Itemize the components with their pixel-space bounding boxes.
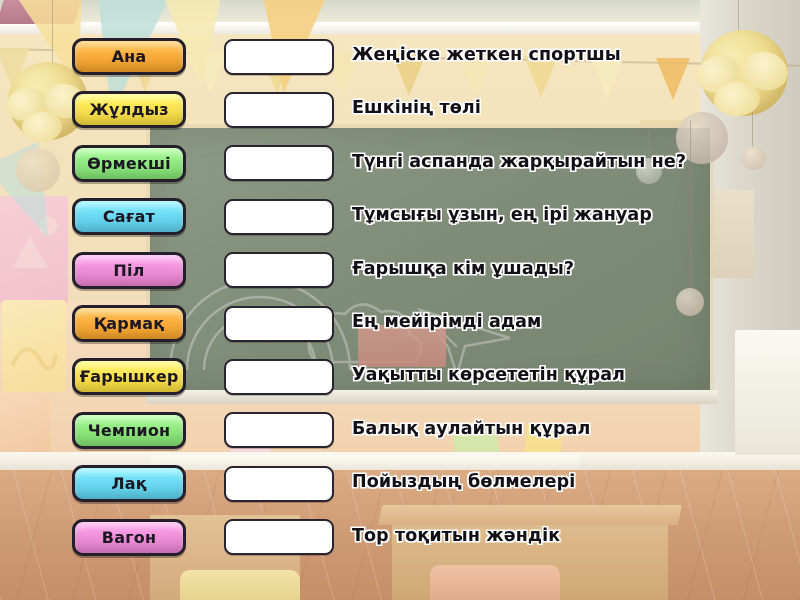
word-tile[interactable]: Ана (72, 38, 186, 75)
word-tile-label: Жұлдыз (89, 100, 169, 119)
clue-text: Ешкінің төлі (352, 98, 792, 118)
word-tile-label: Піл (113, 261, 144, 280)
answer-drop-box[interactable] (224, 306, 334, 342)
word-tile-label: Қармақ (94, 314, 165, 333)
match-row: ӨрмекшіТүнгі аспанда жарқырайтын не? (0, 145, 800, 189)
clue-text: Жеңіске жеткен спортшы (352, 45, 792, 65)
word-tile-label: Ғарышкер (79, 367, 178, 386)
clue-text: Тор тоқитын жәндік (352, 526, 792, 546)
match-row: ПілҒарышқа кім ұшады? (0, 252, 800, 296)
match-row: ҒарышкерУақытты көрсететін құрал (0, 358, 800, 402)
word-tile[interactable]: Піл (72, 252, 186, 289)
match-row: ЖұлдызЕшкінің төлі (0, 91, 800, 135)
answer-drop-box[interactable] (224, 412, 334, 448)
word-tile[interactable]: Вагон (72, 519, 186, 556)
clue-text: Ғарышқа кім ұшады? (352, 259, 792, 279)
word-tile-label: Чемпион (88, 421, 171, 440)
match-row: ВагонТор тоқитын жәндік (0, 519, 800, 563)
answer-drop-box[interactable] (224, 466, 334, 502)
word-tile-label: Лақ (111, 474, 147, 493)
clue-text: Түнгі аспанда жарқырайтын не? (352, 152, 792, 172)
clue-text: Балық аулайтын құрал (352, 419, 792, 439)
word-tile-label: Сағат (103, 207, 155, 226)
word-tile[interactable]: Жұлдыз (72, 91, 186, 128)
clue-text: Тұмсығы ұзын, ең ірі жануар (352, 205, 792, 225)
answer-drop-box[interactable] (224, 145, 334, 181)
answer-drop-box[interactable] (224, 199, 334, 235)
word-tile[interactable]: Өрмекші (72, 145, 186, 182)
match-row: ЛақПойыздың бөлмелері (0, 465, 800, 509)
word-tile[interactable]: Лақ (72, 465, 186, 502)
answer-drop-box[interactable] (224, 92, 334, 128)
match-up-rows: АнаЖеңіске жеткен спортшыЖұлдызЕшкінің т… (0, 0, 800, 600)
clue-text: Пойыздың бөлмелері (352, 472, 792, 492)
answer-drop-box[interactable] (224, 519, 334, 555)
match-row: ҚармақЕң мейірімді адам (0, 305, 800, 349)
word-tile-label: Вагон (102, 528, 156, 547)
word-tile[interactable]: Сағат (72, 198, 186, 235)
answer-drop-box[interactable] (224, 252, 334, 288)
answer-drop-box[interactable] (224, 359, 334, 395)
clue-text: Уақытты көрсететін құрал (352, 365, 792, 385)
word-tile[interactable]: Ғарышкер (72, 358, 186, 395)
match-row: АнаЖеңіске жеткен спортшы (0, 38, 800, 82)
word-tile-label: Өрмекші (87, 154, 171, 173)
activity-stage: АнаЖеңіске жеткен спортшыЖұлдызЕшкінің т… (0, 0, 800, 600)
word-tile-label: Ана (112, 47, 147, 66)
match-row: ЧемпионБалық аулайтын құрал (0, 412, 800, 456)
answer-drop-box[interactable] (224, 39, 334, 75)
match-row: СағатТұмсығы ұзын, ең ірі жануар (0, 198, 800, 242)
word-tile[interactable]: Қармақ (72, 305, 186, 342)
word-tile[interactable]: Чемпион (72, 412, 186, 449)
clue-text: Ең мейірімді адам (352, 312, 792, 332)
